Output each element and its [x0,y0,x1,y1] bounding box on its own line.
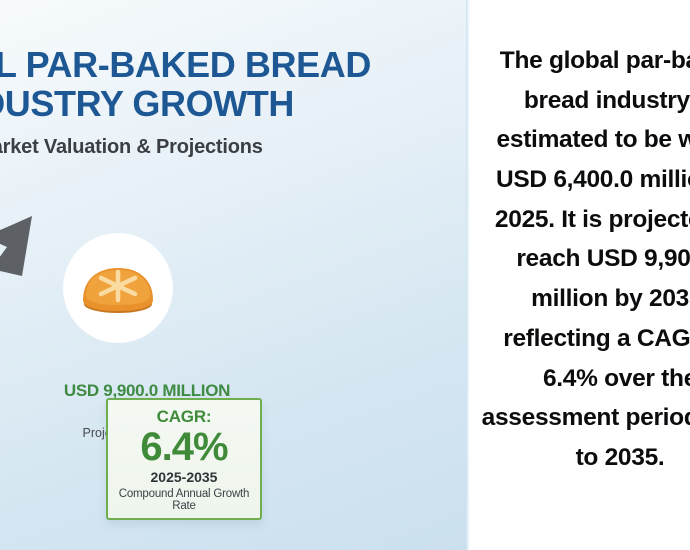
infographic-panel: GLOBAL PAR-BAKED BREAD INDUSTRY GROWTH M… [0,0,468,550]
bread-loaf-icon-right-container [64,234,172,342]
cagr-card: CAGR: 6.4% 2025-2035 Compound Annual Gro… [106,398,262,520]
cagr-label: CAGR: [108,407,260,427]
cagr-value: 6.4% [108,428,260,467]
cagr-description: Compound Annual Growth Rate [108,488,260,512]
page-title: GLOBAL PAR-BAKED BREAD INDUSTRY GROWTH [0,46,468,123]
title-line-1: GLOBAL PAR-BAKED BREAD [0,44,371,85]
page-subtitle: Market Valuation & Projections [0,136,468,159]
infographic-screenshot: GLOBAL PAR-BAKED BREAD INDUSTRY GROWTH M… [0,0,690,550]
body-paragraph: The global par-baked bread industry is e… [470,41,690,478]
title-line-2: INDUSTRY GROWTH [0,85,468,124]
text-panel: The global par-baked bread industry is e… [470,0,690,550]
cagr-years: 2025-2035 [108,469,260,485]
